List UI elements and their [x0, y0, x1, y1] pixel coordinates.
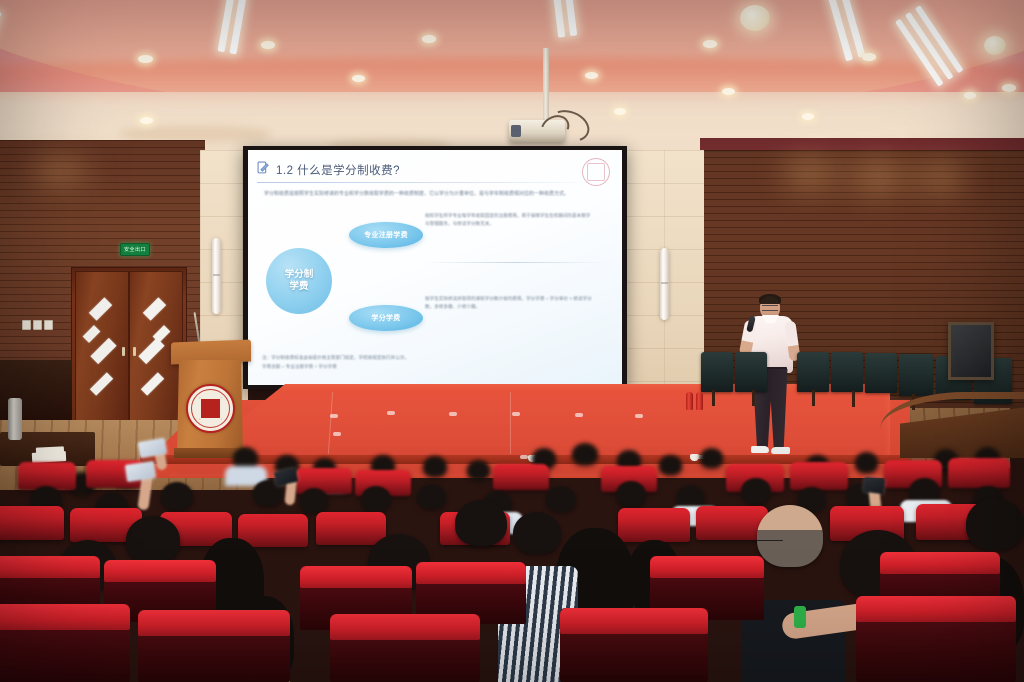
ceiling-downlight [614, 108, 626, 115]
ceiling-downlight [862, 53, 876, 61]
door-leaf-left[interactable] [75, 271, 129, 428]
stage-floor-outlet [449, 412, 457, 416]
center-circle-line2: 学费 [289, 281, 308, 293]
stage-chair [865, 353, 897, 393]
ceiling-downlight [138, 55, 153, 63]
wall-sconce-right [660, 248, 669, 320]
ceiling-downlight [802, 113, 814, 120]
slide-title-underline [257, 182, 597, 183]
slide-seal-icon [582, 158, 610, 186]
ceiling-downlight [1002, 84, 1016, 92]
document-edit-icon [257, 161, 270, 175]
thermos-bottle [8, 398, 22, 440]
stage-floor-outlet [635, 414, 643, 418]
speaker-glasses [762, 305, 778, 311]
projector-lens [511, 125, 521, 137]
audience-head [513, 512, 561, 554]
stage-chair [831, 352, 863, 392]
stage-floor-outlet [520, 455, 528, 459]
projection-screen: 1.2 什么是学分制收费? 学分制收费是按照学生实际修读的专业和学分数收取学费的… [248, 150, 622, 385]
chair-leg [712, 390, 715, 406]
stage-floor-outlet [387, 411, 395, 415]
slide-branch-text-0: 按照学生所学专业每学年收取固定的注册费用，用于保障学生在校期间的基本教学与管理服… [425, 212, 593, 228]
slide-divider [424, 262, 606, 263]
speaker-shoe-right [771, 447, 790, 454]
chair-leg [752, 390, 755, 406]
exit-sign: 安全出口 [120, 243, 150, 256]
audience-head [126, 516, 180, 564]
slide-center-circle: 学分制 学费 [266, 248, 332, 314]
fire-extinguisher [686, 392, 693, 410]
wrist-band [794, 606, 806, 628]
stage-floor-outlet [575, 413, 583, 417]
audience-head [757, 505, 823, 567]
stage-chair [701, 352, 733, 392]
light-switch-panel[interactable] [22, 320, 53, 330]
stage-floor-outlet [333, 432, 341, 436]
slide-lead-paragraph: 学分制收费是按照学生实际修读的专业和学分数收取学费的一种收费制度，它以学分为计量… [264, 190, 604, 199]
audience-head [966, 498, 1024, 550]
ceiling-dome-light [984, 36, 1006, 55]
stage-floor-outlet [512, 412, 520, 416]
fire-extinguisher [696, 392, 703, 410]
ceiling-downlight [964, 92, 976, 99]
stage-floor-outlet [330, 414, 338, 418]
ceiling-downlight [261, 41, 275, 49]
exit-sign-label: 安全出口 [124, 246, 146, 253]
ceiling-downlight [722, 88, 735, 95]
slide-branch-label-1: 学分学费 [349, 305, 423, 331]
ceiling-dome-light [740, 5, 770, 31]
framed-picture [948, 322, 994, 380]
slide-branch-text-1: 按学生实际修读并取得的课程学分数计收的费用，学分学费 = 学分单价 × 修读学分… [425, 295, 593, 311]
speaker-shoe-left [751, 446, 769, 453]
stage-chair [899, 354, 933, 396]
slide-branch-label-0: 专业注册学费 [349, 222, 423, 248]
soffit-shadow [0, 58, 1024, 104]
ceiling-downlight [585, 72, 598, 79]
ceiling-downlight [422, 35, 436, 43]
smartphone [863, 477, 885, 495]
wall-sconce-left [212, 238, 221, 314]
ceiling-downlight [140, 117, 153, 124]
center-circle-line1: 学分制 [285, 269, 314, 281]
projector-mount-pole [543, 48, 549, 122]
eyeglasses [757, 540, 783, 544]
chair-leg [812, 390, 815, 406]
ceiling-downlight [352, 75, 365, 82]
chair-leg [852, 391, 855, 407]
wall-light-glow [20, 150, 100, 192]
water-cup [690, 454, 699, 461]
papers-on-table [36, 446, 64, 455]
auditorium-photo: 安全出口 1.2 什么是学分制收费? 学分制收费是按照学生实际修读的专业和学分数… [0, 0, 1024, 682]
stage-chair [735, 352, 767, 392]
podium-university-emblem [186, 384, 235, 433]
stage-chair [797, 352, 829, 392]
ceiling-downlight [703, 40, 717, 48]
carpet-seam [510, 392, 511, 454]
slide-title: 1.2 什么是学分制收费? [276, 162, 400, 178]
wall-light-glow [905, 156, 975, 200]
audience-head [455, 500, 507, 546]
